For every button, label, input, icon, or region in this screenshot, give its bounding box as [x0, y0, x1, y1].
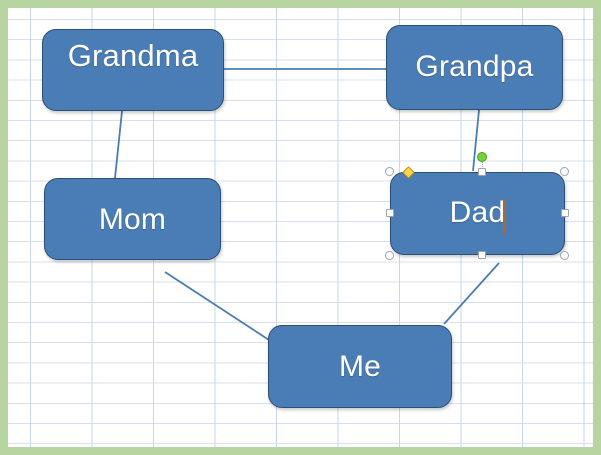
connector-grandma-mom[interactable]	[115, 111, 122, 178]
text-caret	[503, 199, 505, 235]
resize-handle-middle-right[interactable]	[561, 209, 569, 217]
shape-grandpa[interactable]: Grandpa	[386, 25, 563, 110]
resize-handle-top-right[interactable]	[560, 167, 569, 176]
rotation-handle[interactable]	[477, 152, 487, 162]
connector-mom-me[interactable]	[165, 272, 269, 340]
slide-canvas: Grandma Grandpa Mom Dad Me	[0, 0, 601, 455]
connector-dad-me[interactable]	[444, 263, 499, 324]
resize-handle-bottom-right[interactable]	[560, 251, 569, 260]
shape-grandma[interactable]: Grandma	[42, 29, 224, 111]
shape-dad[interactable]: Dad	[390, 172, 565, 255]
slide-surface[interactable]: Grandma Grandpa Mom Dad Me	[8, 8, 593, 447]
resize-handle-top-left[interactable]	[385, 167, 394, 176]
connector-grandpa-dad[interactable]	[473, 110, 479, 171]
resize-handle-bottom-left[interactable]	[385, 251, 394, 260]
resize-handle-top-center[interactable]	[478, 168, 486, 176]
resize-handle-middle-left[interactable]	[386, 209, 394, 217]
shape-grandma-label: Grandma	[68, 30, 199, 71]
shape-dad-label: Dad	[450, 173, 506, 228]
shape-mom[interactable]: Mom	[44, 178, 221, 260]
shape-me[interactable]: Me	[268, 325, 452, 408]
shape-grandpa-label: Grandpa	[415, 26, 533, 82]
shape-mom-label: Mom	[99, 179, 166, 235]
shape-me-label: Me	[339, 326, 381, 382]
resize-handle-bottom-center[interactable]	[478, 251, 486, 259]
